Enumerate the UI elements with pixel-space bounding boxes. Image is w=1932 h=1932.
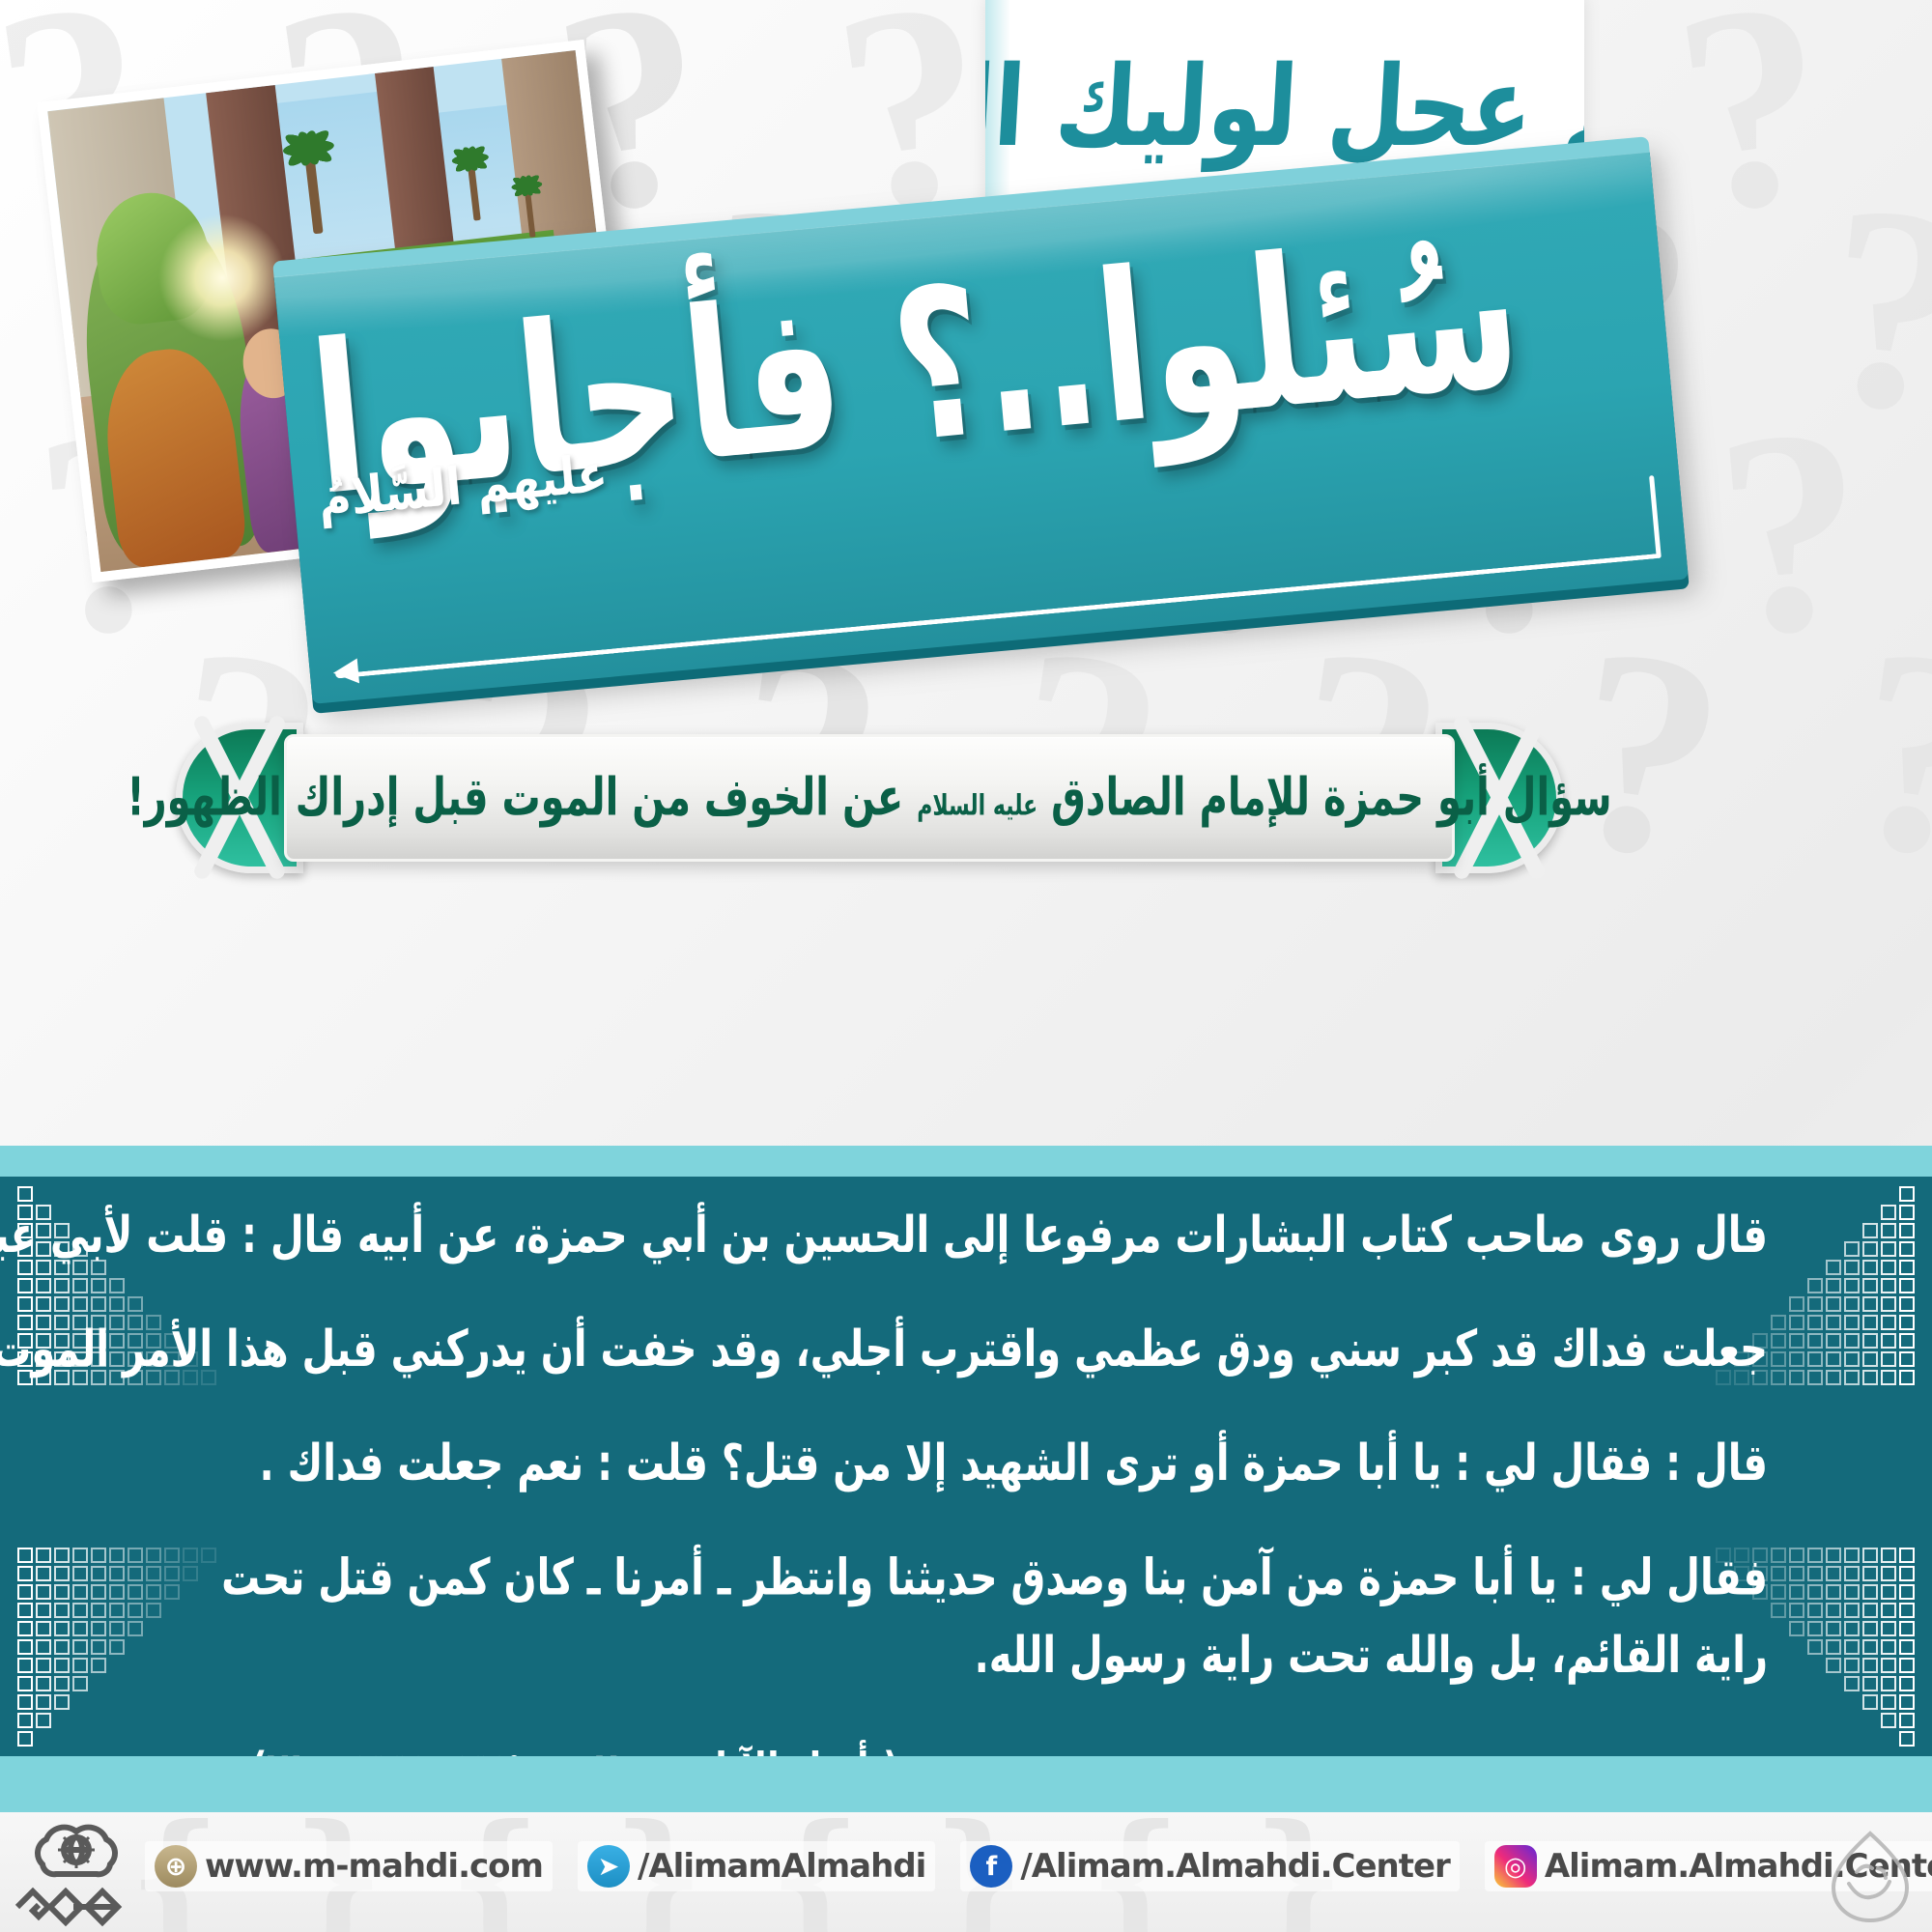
paragraph-text: جعلت فداك قد كبر سني ودق عظمي واقترب أجل… [0,1321,1768,1378]
social-link-label: /AlimamAlmahdi [638,1847,925,1886]
question-text-main: سؤال أبو حمزة للإمام الصادق [1051,768,1611,828]
source-citation: (تأويل الآيات: ج ٢ ص ٦٦٥ - ٦٦٦ ح ٢١) [164,1745,1768,1756]
banner-inner-rule [335,554,1662,679]
narration-paragraph: فقال لي : يا أبا حمزة من آمن بنا وصدق حد… [164,1539,1768,1694]
narration-text-block: قال روى صاحب كتاب البشارات مرفوعا إلى ال… [0,1177,1932,1756]
question-banner: سؤال أبو حمزة للإمام الصادق عليه السلام … [191,721,1548,875]
facebook-icon[interactable]: f [970,1845,1012,1888]
calligraphic-seal-icon [1824,1828,1917,1924]
arrow-left-icon [332,659,359,686]
poster-root: ????????????????????????????????????? ال… [0,0,1932,1932]
social-link-label: /Alimam.Almahdi.Center [1020,1847,1450,1886]
social-link-telegram[interactable]: ➤/AlimamAlmahdi [578,1841,935,1891]
social-link-facebook[interactable]: f/Alimam.Almahdi.Center [960,1841,1460,1891]
narration-paragraph: قال روى صاحب كتاب البشارات مرفوعا إلى ال… [164,1209,1768,1263]
question-text-tail: عن الخوف من الموت قبل إدراك الظهور! [127,768,903,828]
cyan-strip-bottom [0,1756,1932,1812]
center-emblem-icon [14,1818,139,1930]
social-link-globe[interactable]: ⊕www.m-mahdi.com [145,1841,553,1891]
honorific-mark: عليه السلام [917,790,1037,823]
narration-body: قال روى صاحب كتاب البشارات مرفوعا إلى ال… [0,1177,1932,1756]
globe-icon[interactable]: ⊕ [155,1845,197,1888]
paragraph-text: فقال لي : يا أبا حمزة من آمن بنا وصدق حد… [221,1549,1768,1685]
question-text: سؤال أبو حمزة للإمام الصادق عليه السلام … [127,768,1611,828]
narration-paragraph: قال : فقال لي : يا أبا حمزة أو ترى الشهي… [164,1437,1768,1491]
narration-paragraph: جعلت فداك قد كبر سني ودق عظمي واقترب أجل… [164,1323,1768,1377]
social-link-label: www.m-mahdi.com [205,1847,543,1886]
cyan-strip-top [0,1146,1932,1177]
social-links: ⊕www.m-mahdi.com➤/AlimamAlmahdif/Alimam.… [145,1841,1932,1891]
instagram-icon[interactable]: ◎ [1494,1845,1537,1888]
paragraph-text: قال : فقال لي : يا أبا حمزة أو ترى الشهي… [260,1435,1768,1492]
paragraph-text: قال روى صاحب كتاب البشارات مرفوعا إلى ال… [0,1207,1768,1264]
footer-bar: ❴❵❴❵❴❵❴❵ ⊕www.m-mahdi.com➤/AlimamAlmahdi… [0,1812,1932,1932]
question-banner-plate: سؤال أبو حمزة للإمام الصادق عليه السلام … [284,734,1455,862]
telegram-icon[interactable]: ➤ [587,1845,630,1888]
